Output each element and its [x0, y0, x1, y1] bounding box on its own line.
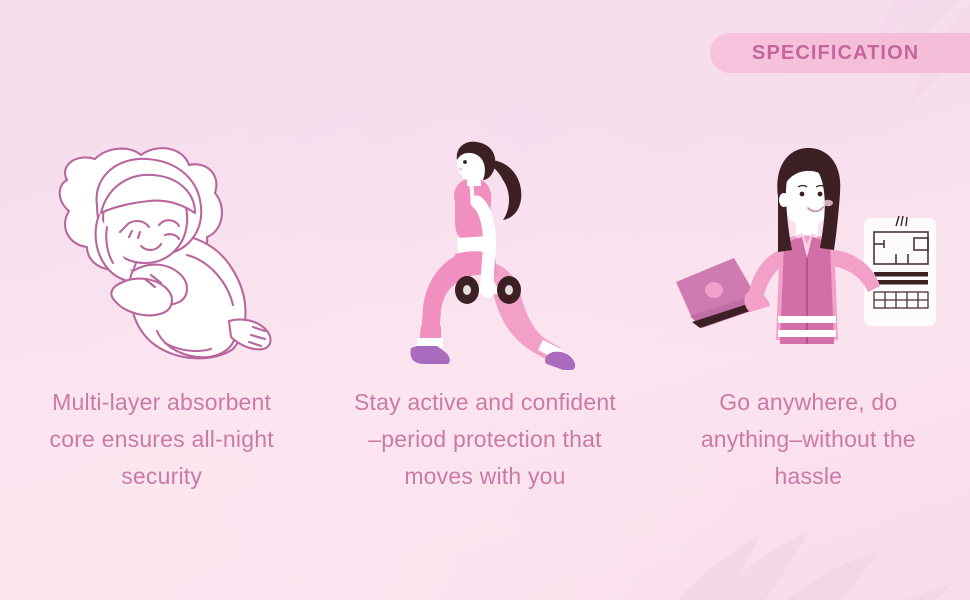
caption-line: security — [17, 458, 307, 495]
woman-with-laptop-illustration — [658, 130, 958, 370]
feature-caption-active-confidence: Stay active and confident –period protec… — [340, 384, 630, 495]
caption-line: Go anywhere, do — [663, 384, 953, 421]
specification-badge-label: SPECIFICATION — [752, 42, 919, 65]
specification-banner: SPECIFICATION — [0, 0, 970, 600]
feature-caption-night-protection: Multi-layer absorbent core ensures all-n… — [17, 384, 307, 495]
lunging-woman-illustration — [335, 130, 635, 370]
caption-line: moves with you — [340, 458, 630, 495]
feature-columns: Multi-layer absorbent core ensures all-n… — [0, 130, 970, 495]
feature-active-confidence: Stay active and confident –period protec… — [323, 130, 646, 495]
caption-line: –period protection that — [340, 421, 630, 458]
sleeping-woman-illustration — [12, 130, 312, 370]
caption-line: Multi-layer absorbent — [17, 384, 307, 421]
caption-line: Stay active and confident — [340, 384, 630, 421]
feature-caption-on-the-go: Go anywhere, do anything–without the has… — [663, 384, 953, 495]
feature-night-protection: Multi-layer absorbent core ensures all-n… — [0, 130, 323, 495]
caption-line: hassle — [663, 458, 953, 495]
caption-line: core ensures all-night — [17, 421, 307, 458]
caption-line: anything–without the — [663, 421, 953, 458]
feature-on-the-go: Go anywhere, do anything–without the has… — [647, 130, 970, 495]
specification-badge: SPECIFICATION — [710, 33, 970, 73]
